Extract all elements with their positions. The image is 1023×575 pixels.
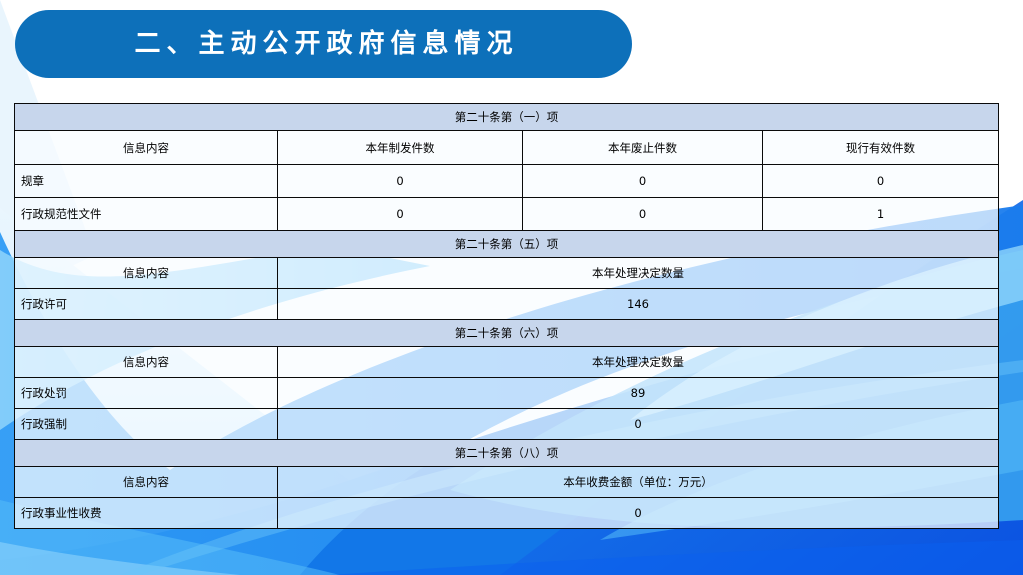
section-band-label: 第二十条第（六）项 <box>15 320 999 347</box>
table-row: 行政事业性收费 0 <box>15 498 999 529</box>
column-header-effective-count: 现行有效件数 <box>763 131 999 165</box>
column-header-decision-quantity: 本年处理决定数量 <box>278 347 999 378</box>
row-label: 规章 <box>15 165 278 198</box>
row-label: 行政处罚 <box>15 378 278 409</box>
row-value: 89 <box>278 378 999 409</box>
page-title: 二、主动公开政府信息情况 <box>128 31 518 57</box>
row-value: 0 <box>278 409 999 440</box>
column-header-info-content: 信息内容 <box>15 467 278 498</box>
column-header-decision-quantity: 本年处理决定数量 <box>278 258 999 289</box>
column-header-row: 信息内容 本年收费金额（单位：万元） <box>15 467 999 498</box>
section-band-row: 第二十条第（一）项 <box>15 104 999 131</box>
column-header-row: 信息内容 本年处理决定数量 <box>15 347 999 378</box>
table-row: 规章 0 0 0 <box>15 165 999 198</box>
row-label: 行政许可 <box>15 289 278 320</box>
column-header-row: 信息内容 本年制发件数 本年废止件数 现行有效件数 <box>15 131 999 165</box>
section-band-label: 第二十条第（五）项 <box>15 231 999 258</box>
government-information-disclosure-table: 第二十条第（一）项 信息内容 本年制发件数 本年废止件数 现行有效件数 规章 0… <box>14 103 999 529</box>
section-title-banner: 二、主动公开政府信息情况 <box>15 10 632 78</box>
row-value: 0 <box>278 198 523 231</box>
slide-canvas: 二、主动公开政府信息情况 第二十条第（一）项 信息内容 本年制发件数 本年废止件… <box>0 0 1023 575</box>
section-band-row: 第二十条第（六）项 <box>15 320 999 347</box>
section-band-row: 第二十条第（五）项 <box>15 231 999 258</box>
column-header-issued-count: 本年制发件数 <box>278 131 523 165</box>
section-band-label: 第二十条第（八）项 <box>15 440 999 467</box>
column-header-fee-amount: 本年收费金额（单位：万元） <box>278 467 999 498</box>
row-label: 行政强制 <box>15 409 278 440</box>
column-header-info-content: 信息内容 <box>15 258 278 289</box>
row-value: 0 <box>278 498 999 529</box>
section-band-label: 第二十条第（一）项 <box>15 104 999 131</box>
section-band-row: 第二十条第（八）项 <box>15 440 999 467</box>
column-header-info-content: 信息内容 <box>15 347 278 378</box>
table-row: 行政许可 146 <box>15 289 999 320</box>
row-label: 行政事业性收费 <box>15 498 278 529</box>
row-value: 0 <box>523 165 763 198</box>
column-header-row: 信息内容 本年处理决定数量 <box>15 258 999 289</box>
row-value: 1 <box>763 198 999 231</box>
table-row: 行政强制 0 <box>15 409 999 440</box>
column-header-info-content: 信息内容 <box>15 131 278 165</box>
column-header-repealed-count: 本年废止件数 <box>523 131 763 165</box>
row-label: 行政规范性文件 <box>15 198 278 231</box>
table-row: 行政规范性文件 0 0 1 <box>15 198 999 231</box>
row-value: 0 <box>523 198 763 231</box>
table-row: 行政处罚 89 <box>15 378 999 409</box>
row-value: 0 <box>763 165 999 198</box>
row-value: 0 <box>278 165 523 198</box>
row-value: 146 <box>278 289 999 320</box>
